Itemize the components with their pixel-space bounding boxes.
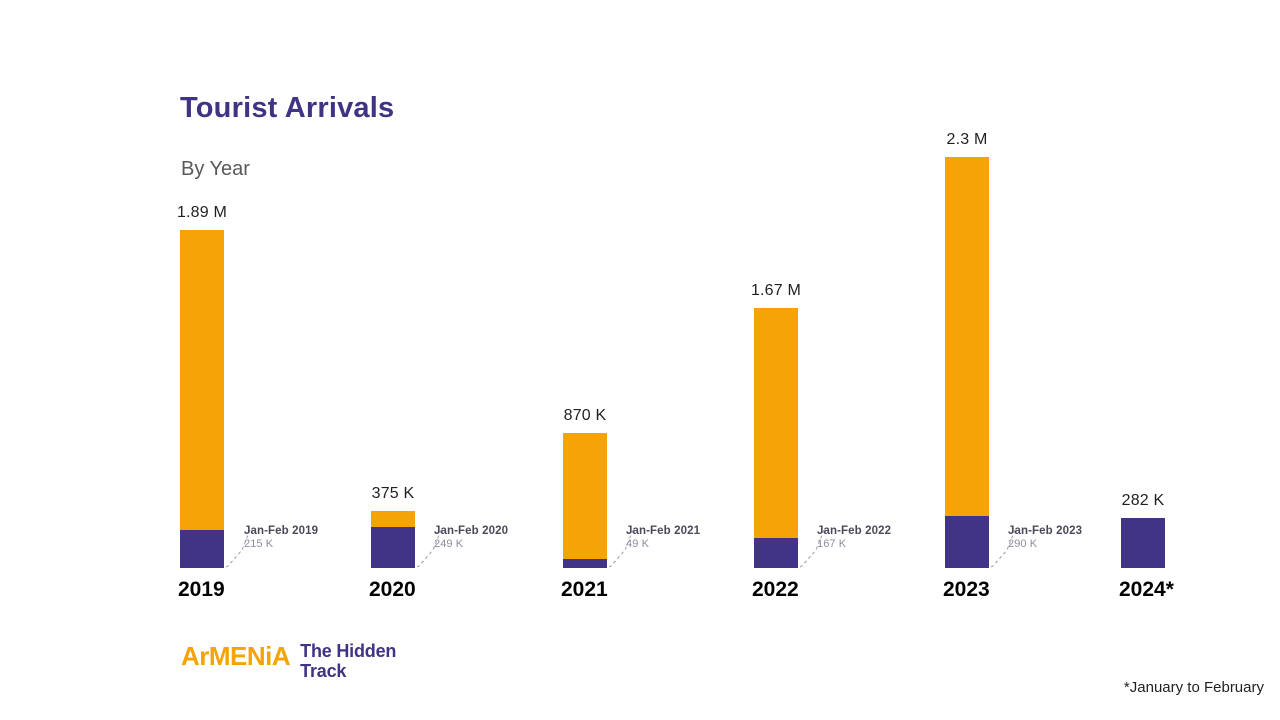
footnote: *January to February xyxy=(1124,679,1264,696)
annotation-title-2021: Jan-Feb 2021 xyxy=(626,525,700,538)
logo-tagline-line2: Track xyxy=(300,661,396,681)
bar-segment-rest-2022[interactable] xyxy=(754,308,798,538)
bar-segment-janfeb-2021[interactable] xyxy=(563,559,607,568)
bar-segment-rest-2019[interactable] xyxy=(180,230,224,530)
axis-label-2024: 2024* xyxy=(1119,578,1163,602)
bar-segment-rest-2023[interactable] xyxy=(945,157,989,516)
annotation-value-2020: 249 K xyxy=(434,538,508,550)
annotation-value-2019: 215 K xyxy=(244,538,318,550)
bar-stack-2024[interactable] xyxy=(1121,518,1165,568)
bar-total-label-2022: 1.67 M xyxy=(751,282,801,300)
annotation-title-2022: Jan-Feb 2022 xyxy=(817,525,891,538)
bar-segment-janfeb-2019[interactable] xyxy=(180,530,224,568)
annotation-title-2020: Jan-Feb 2020 xyxy=(434,525,508,538)
brand-logo: ArMENiA The Hidden Track xyxy=(181,641,396,681)
bar-group-2019: 1.89 M 2019 xyxy=(180,230,224,568)
bar-segment-janfeb-2020[interactable] xyxy=(371,527,415,568)
bar-segment-rest-2020[interactable] xyxy=(371,511,415,527)
logo-tagline: The Hidden Track xyxy=(300,641,396,681)
bar-segment-janfeb-2022[interactable] xyxy=(754,538,798,568)
annotation-value-2021: 49 K xyxy=(626,538,700,550)
bar-segment-janfeb-2023[interactable] xyxy=(945,516,989,568)
bar-total-label-2023: 2.3 M xyxy=(946,131,987,149)
bar-group-2024: 282 K 2024* xyxy=(1121,518,1165,568)
logo-wordmark: ArMENiA xyxy=(181,641,290,669)
bar-stack-2022[interactable] xyxy=(754,308,798,568)
annotation-2023: Jan-Feb 2023 290 K xyxy=(1008,525,1082,550)
bar-stack-2023[interactable] xyxy=(945,157,989,568)
bar-stack-2019[interactable] xyxy=(180,230,224,568)
bar-total-label-2021: 870 K xyxy=(564,407,607,425)
annotation-2020: Jan-Feb 2020 249 K xyxy=(434,525,508,550)
slide-canvas: Tourist Arrivals By Year 1.89 M 2019 Jan… xyxy=(0,0,1280,720)
bar-group-2022: 1.67 M 2022 xyxy=(754,308,798,568)
bar-total-label-2020: 375 K xyxy=(372,485,415,503)
annotation-2021: Jan-Feb 2021 49 K xyxy=(626,525,700,550)
bar-segment-janfeb-2024[interactable] xyxy=(1121,518,1165,568)
annotation-2022: Jan-Feb 2022 167 K xyxy=(817,525,891,550)
bar-chart: 1.89 M 2019 Jan-Feb 2019 215 K 375 K 202… xyxy=(0,0,1280,720)
bar-stack-2020[interactable] xyxy=(371,511,415,568)
bar-segment-rest-2021[interactable] xyxy=(563,433,607,559)
annotation-title-2019: Jan-Feb 2019 xyxy=(244,525,318,538)
bar-group-2020: 375 K 2020 xyxy=(371,511,415,568)
axis-label-2022: 2022 xyxy=(752,578,796,602)
axis-label-2021: 2021 xyxy=(561,578,605,602)
axis-label-2023: 2023 xyxy=(943,578,987,602)
axis-label-2019: 2019 xyxy=(178,578,222,602)
annotation-2019: Jan-Feb 2019 215 K xyxy=(244,525,318,550)
bar-group-2023: 2.3 M 2023 xyxy=(945,157,989,568)
bar-stack-2021[interactable] xyxy=(563,433,607,568)
logo-tagline-line1: The Hidden xyxy=(300,641,396,661)
bar-total-label-2019: 1.89 M xyxy=(177,204,227,222)
bar-total-label-2024: 282 K xyxy=(1122,492,1165,510)
annotation-value-2023: 290 K xyxy=(1008,538,1082,550)
annotation-title-2023: Jan-Feb 2023 xyxy=(1008,525,1082,538)
annotation-value-2022: 167 K xyxy=(817,538,891,550)
axis-label-2020: 2020 xyxy=(369,578,413,602)
bar-group-2021: 870 K 2021 xyxy=(563,433,607,568)
